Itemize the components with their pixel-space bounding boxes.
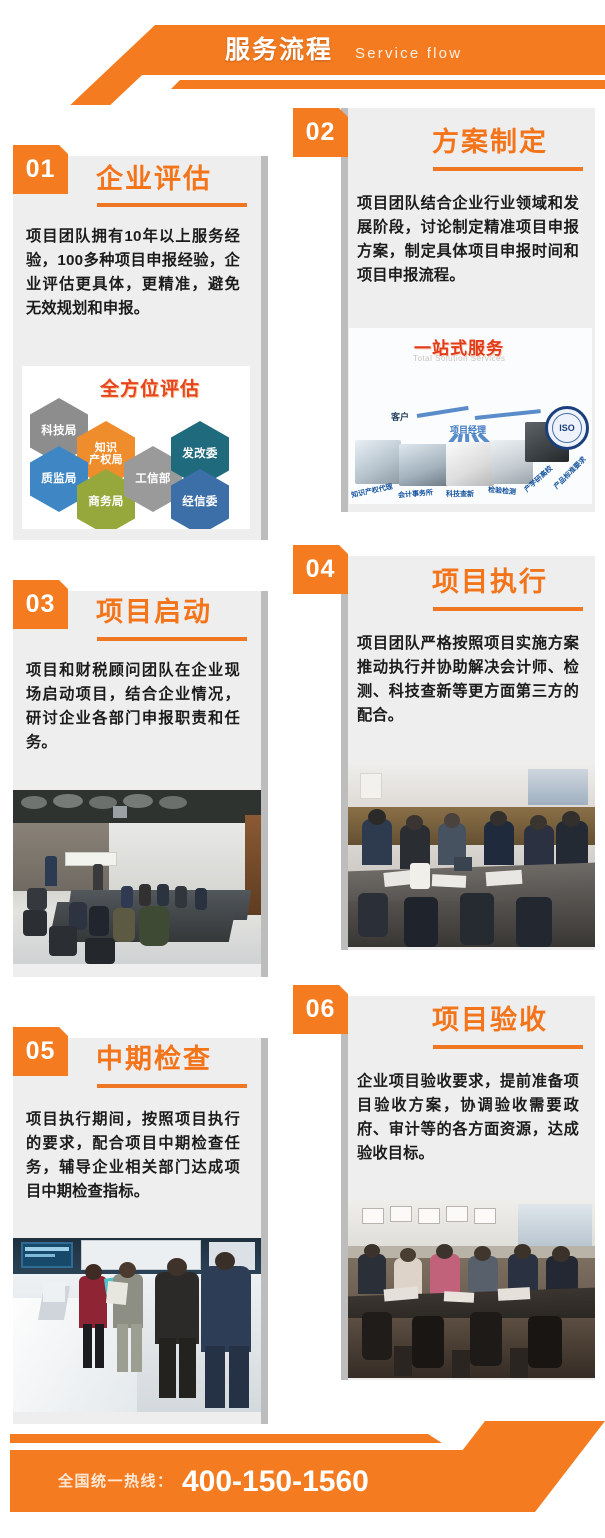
page-footer: 全国统一热线： 400-150-1560	[0, 1393, 605, 1538]
step-title-underline-02	[433, 167, 583, 171]
page-subtitle: Service flow	[355, 41, 462, 67]
step-title-04: 项目执行	[432, 566, 548, 598]
step-body-04: 项目团队严格按照项目实施方案推动执行并协助解决会计师、检测、科技查新等更方面第三…	[357, 632, 579, 728]
service-label-accounting: 会计事务所	[398, 487, 434, 500]
step-title-03: 项目启动	[96, 596, 212, 628]
service-thumb-novelty	[446, 442, 494, 486]
step-body-05: 项目执行期间，按照项目执行的要求，配合项目中期检查任务，辅导企业相关部门达成项目…	[26, 1108, 240, 1204]
step-photo-06	[348, 1200, 595, 1378]
step-photo-05	[13, 1238, 261, 1412]
service-thumb-ip	[355, 440, 401, 484]
hotline-label: 全国统一热线：	[58, 1472, 174, 1492]
step-title-underline-01	[97, 203, 247, 207]
service-label-ip: 知识产权代理	[350, 482, 393, 501]
step-photo-04	[348, 763, 595, 947]
service-iso-seal: ISO	[545, 406, 589, 450]
page-title: 服务流程	[225, 32, 333, 68]
step-photo-03	[13, 790, 261, 964]
step-title-underline-06	[433, 1045, 583, 1049]
step-number-badge-02: 02	[293, 108, 348, 157]
one-stop-service-figure: 一站式服务 Total Solution Services 客户 项目经理 IS…	[349, 328, 592, 504]
step-title-underline-04	[433, 607, 583, 611]
step-number-badge-04: 04	[293, 545, 348, 594]
step-number-badge-06: 06	[293, 985, 348, 1034]
page-header: 服务流程 Service flow	[0, 0, 605, 105]
step-number-badge-05: 05	[13, 1027, 68, 1076]
hexagon-assessment-figure: 全方位评估 科技局 知识 产权局 质监局 商务局 工信部 发改委 经信委	[22, 366, 250, 529]
step-body-06: 企业项目验收要求，提前准备项目验收方案，协调验收需要政府、审计等的各方面资源，达…	[357, 1070, 579, 1166]
step-title-underline-05	[97, 1084, 247, 1088]
step-body-02: 项目团队结合企业行业领域和发展阶段，讨论制定精准项目申报方案，制定具体项目申报时…	[357, 192, 579, 288]
step-title-underline-03	[97, 637, 247, 641]
service-node-customer: 客户	[391, 410, 409, 423]
service-flow-poster: 服务流程 Service flow 01 企业评估 项目团队拥有10年以上服务经…	[0, 0, 605, 1538]
service-label-novelty: 科技查新	[446, 489, 474, 499]
service-meeting-thumb	[425, 362, 533, 406]
service-label-inspection: 检验检测	[488, 485, 517, 497]
step-title-02: 方案制定	[432, 126, 548, 158]
service-arrow-to-right	[475, 409, 541, 420]
hexagon-figure-title: 全方位评估	[100, 374, 200, 401]
step-number-badge-03: 03	[13, 580, 68, 629]
step-body-01: 项目团队拥有10年以上服务经验，100多种项目申报经验，企业评估更具体，更精准，…	[26, 225, 240, 321]
service-arrow-to-customer	[417, 406, 469, 418]
step-title-06: 项目验收	[432, 1004, 548, 1036]
step-body-03: 项目和财税顾问团队在企业现场启动项目，结合企业情况，研讨企业各部门申报职责和任务…	[26, 659, 240, 755]
step-title-01: 企业评估	[96, 163, 212, 195]
service-thumb-accounting	[399, 444, 449, 486]
step-title-05: 中期检查	[96, 1043, 212, 1075]
service-node-manager: 项目经理	[450, 423, 486, 436]
step-number-badge-01: 01	[13, 145, 68, 194]
hotline-number[interactable]: 400-150-1560	[182, 1463, 369, 1501]
